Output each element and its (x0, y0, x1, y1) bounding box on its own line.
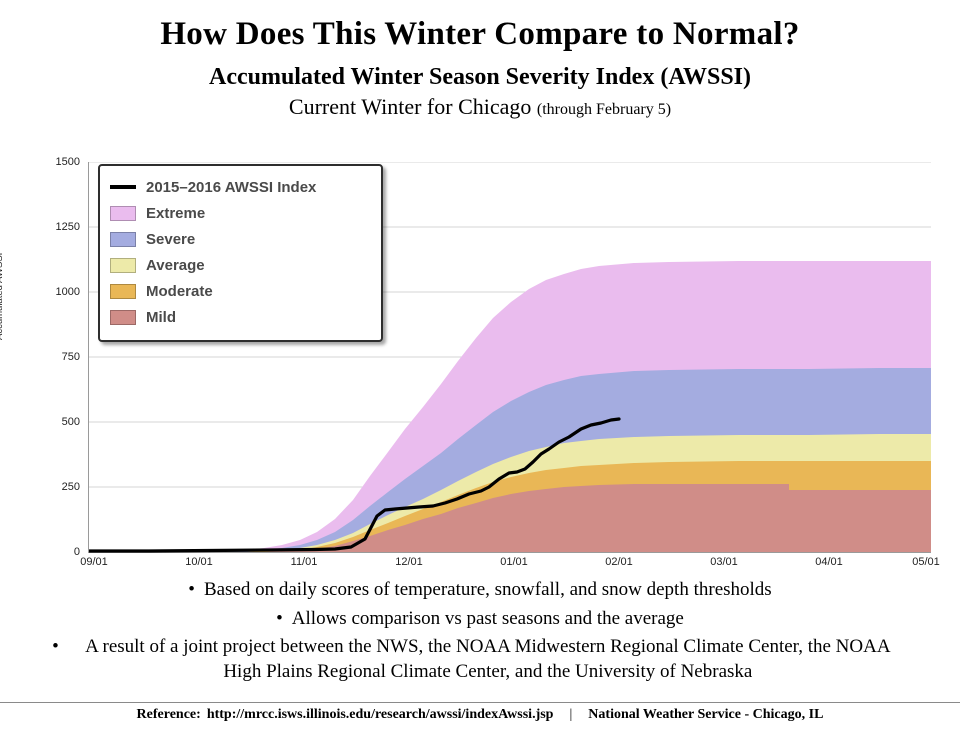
legend-item-mild: Mild (110, 304, 371, 330)
awssi-chart: Accumulated AWSSI 0 250 500 750 1000 125… (0, 150, 960, 578)
y-axis-tick-labels: 0 250 500 750 1000 1250 1500 (0, 162, 88, 552)
y-tick-750: 750 (62, 351, 80, 363)
legend-label-index: 2015–2016 AWSSI Index (146, 179, 316, 196)
chart-title: Accumulated Winter Season Severity Index… (0, 64, 960, 92)
bullet-text-1: Based on daily scores of temperature, sn… (204, 578, 772, 603)
page-title: How Does This Winter Compare to Normal? (0, 16, 960, 52)
legend-swatch-mild-icon (110, 310, 136, 325)
y-tick-1000: 1000 (56, 286, 80, 298)
legend-item-index: 2015–2016 AWSSI Index (110, 174, 371, 200)
bullet-text-3: A result of a joint project between the … (68, 635, 908, 684)
legend-label-mild: Mild (146, 309, 176, 326)
legend-label-severe: Severe (146, 231, 195, 248)
legend-label-average: Average (146, 257, 205, 274)
chart-subtitle-main: Current Winter for Chicago (289, 94, 531, 119)
reference-url[interactable]: http://mrcc.isws.illinois.edu/research/a… (207, 707, 554, 723)
y-tick-500: 500 (62, 416, 80, 428)
legend-swatch-extreme-icon (110, 206, 136, 221)
bullet-marker-icon: • (188, 578, 195, 603)
x-tick-1201: 12/01 (395, 556, 423, 568)
legend-item-severe: Severe (110, 226, 371, 252)
legend-item-moderate: Moderate (110, 278, 371, 304)
chart-legend: 2015–2016 AWSSI Index Extreme Severe Ave… (98, 164, 383, 342)
x-tick-0301: 03/01 (710, 556, 738, 568)
x-tick-1001: 10/01 (185, 556, 213, 568)
list-item: • A result of a joint project between th… (0, 635, 960, 684)
x-tick-0401: 04/01 (815, 556, 843, 568)
legend-label-moderate: Moderate (146, 283, 213, 300)
legend-item-extreme: Extreme (110, 200, 371, 226)
y-tick-0: 0 (74, 546, 80, 558)
legend-item-average: Average (110, 252, 371, 278)
bullet-list: • Based on daily scores of temperature, … (0, 578, 960, 689)
x-tick-0501: 05/01 (912, 556, 940, 568)
y-tick-250: 250 (62, 481, 80, 493)
x-tick-0901: 09/01 (80, 556, 108, 568)
chart-subtitle: Current Winter for Chicago (through Febr… (0, 94, 960, 119)
list-item: • Allows comparison vs past seasons and … (0, 607, 960, 632)
legend-line-swatch-icon (110, 185, 136, 189)
legend-label-extreme: Extreme (146, 205, 205, 222)
footer-separator: | (569, 707, 572, 723)
footer-office: National Weather Service - Chicago, IL (588, 707, 823, 723)
bullet-marker-icon: • (52, 635, 59, 684)
reference-label: Reference: (137, 707, 201, 723)
list-item: • Based on daily scores of temperature, … (0, 578, 960, 603)
x-tick-0101: 01/01 (500, 556, 528, 568)
x-axis-tick-labels: 09/01 10/01 11/01 12/01 01/01 02/01 03/0… (88, 554, 930, 576)
x-tick-0201: 02/01 (605, 556, 633, 568)
chart-subtitle-note: (through February 5) (537, 101, 671, 118)
legend-swatch-moderate-icon (110, 284, 136, 299)
legend-swatch-average-icon (110, 258, 136, 273)
bullet-marker-icon: • (276, 607, 283, 632)
bullet-text-2: Allows comparison vs past seasons and th… (292, 607, 684, 632)
y-tick-1250: 1250 (56, 221, 80, 233)
y-tick-1500: 1500 (56, 156, 80, 168)
x-tick-1101: 11/01 (291, 556, 318, 568)
legend-swatch-severe-icon (110, 232, 136, 247)
